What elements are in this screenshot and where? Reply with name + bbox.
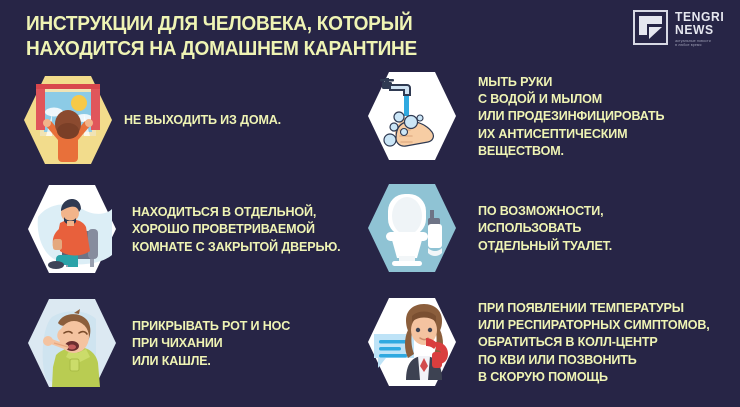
call-center-operator-icon: [366, 296, 458, 388]
faucet-washing-hands-icon: [366, 70, 458, 162]
instruction-item-separate-toilet: По возможности, использовать отдельный т…: [366, 182, 619, 274]
page-title: Инструкции для человека, который находит…: [26, 11, 565, 61]
instruction-item-separate-room: Находиться в отдельной, хорошо проветрив…: [26, 183, 351, 275]
instruction-text: Прикрывать рот и нос при чихании или каш…: [132, 317, 290, 369]
logo-wordmark: TENGRI NEWS актуальные новости в любое в…: [675, 10, 726, 48]
man-coughing-icon: [26, 297, 118, 389]
instruction-text: По возможности, использовать отдельный т…: [478, 202, 612, 254]
infographic-poster: Инструкции для человека, который находит…: [0, 0, 740, 407]
instruction-text: При появлении температуры или респиратор…: [478, 299, 710, 385]
logo-tagline: актуальные новости в любое время: [675, 39, 726, 48]
instruction-text: Не выходить из дома.: [124, 111, 281, 128]
toilet-icon: [366, 182, 458, 274]
man-in-armchair-icon: [26, 183, 118, 275]
poster-header: Инструкции для человека, который находит…: [0, 0, 740, 66]
instruction-text: Мыть руки с водой и мылом или продезинфи…: [478, 73, 664, 159]
instruction-text: Находиться в отдельной, хорошо проветрив…: [132, 203, 340, 255]
instruction-item-cover-cough: Прикрывать рот и нос при чихании или каш…: [26, 297, 299, 389]
tengri-news-logo: TENGRI NEWS актуальные новости в любое в…: [633, 10, 726, 48]
logo-word-news: NEWS: [675, 24, 724, 37]
instruction-item-call-center: При появлении температуры или респиратор…: [366, 296, 722, 388]
instruction-item-wash-hands: Мыть руки с водой и мылом или продезинфи…: [366, 70, 674, 162]
instruction-item-stay-home: Не выходить из дома.: [22, 74, 289, 166]
tengri-flag-mark-icon: [633, 10, 668, 45]
person-at-window-icon: [22, 74, 114, 166]
